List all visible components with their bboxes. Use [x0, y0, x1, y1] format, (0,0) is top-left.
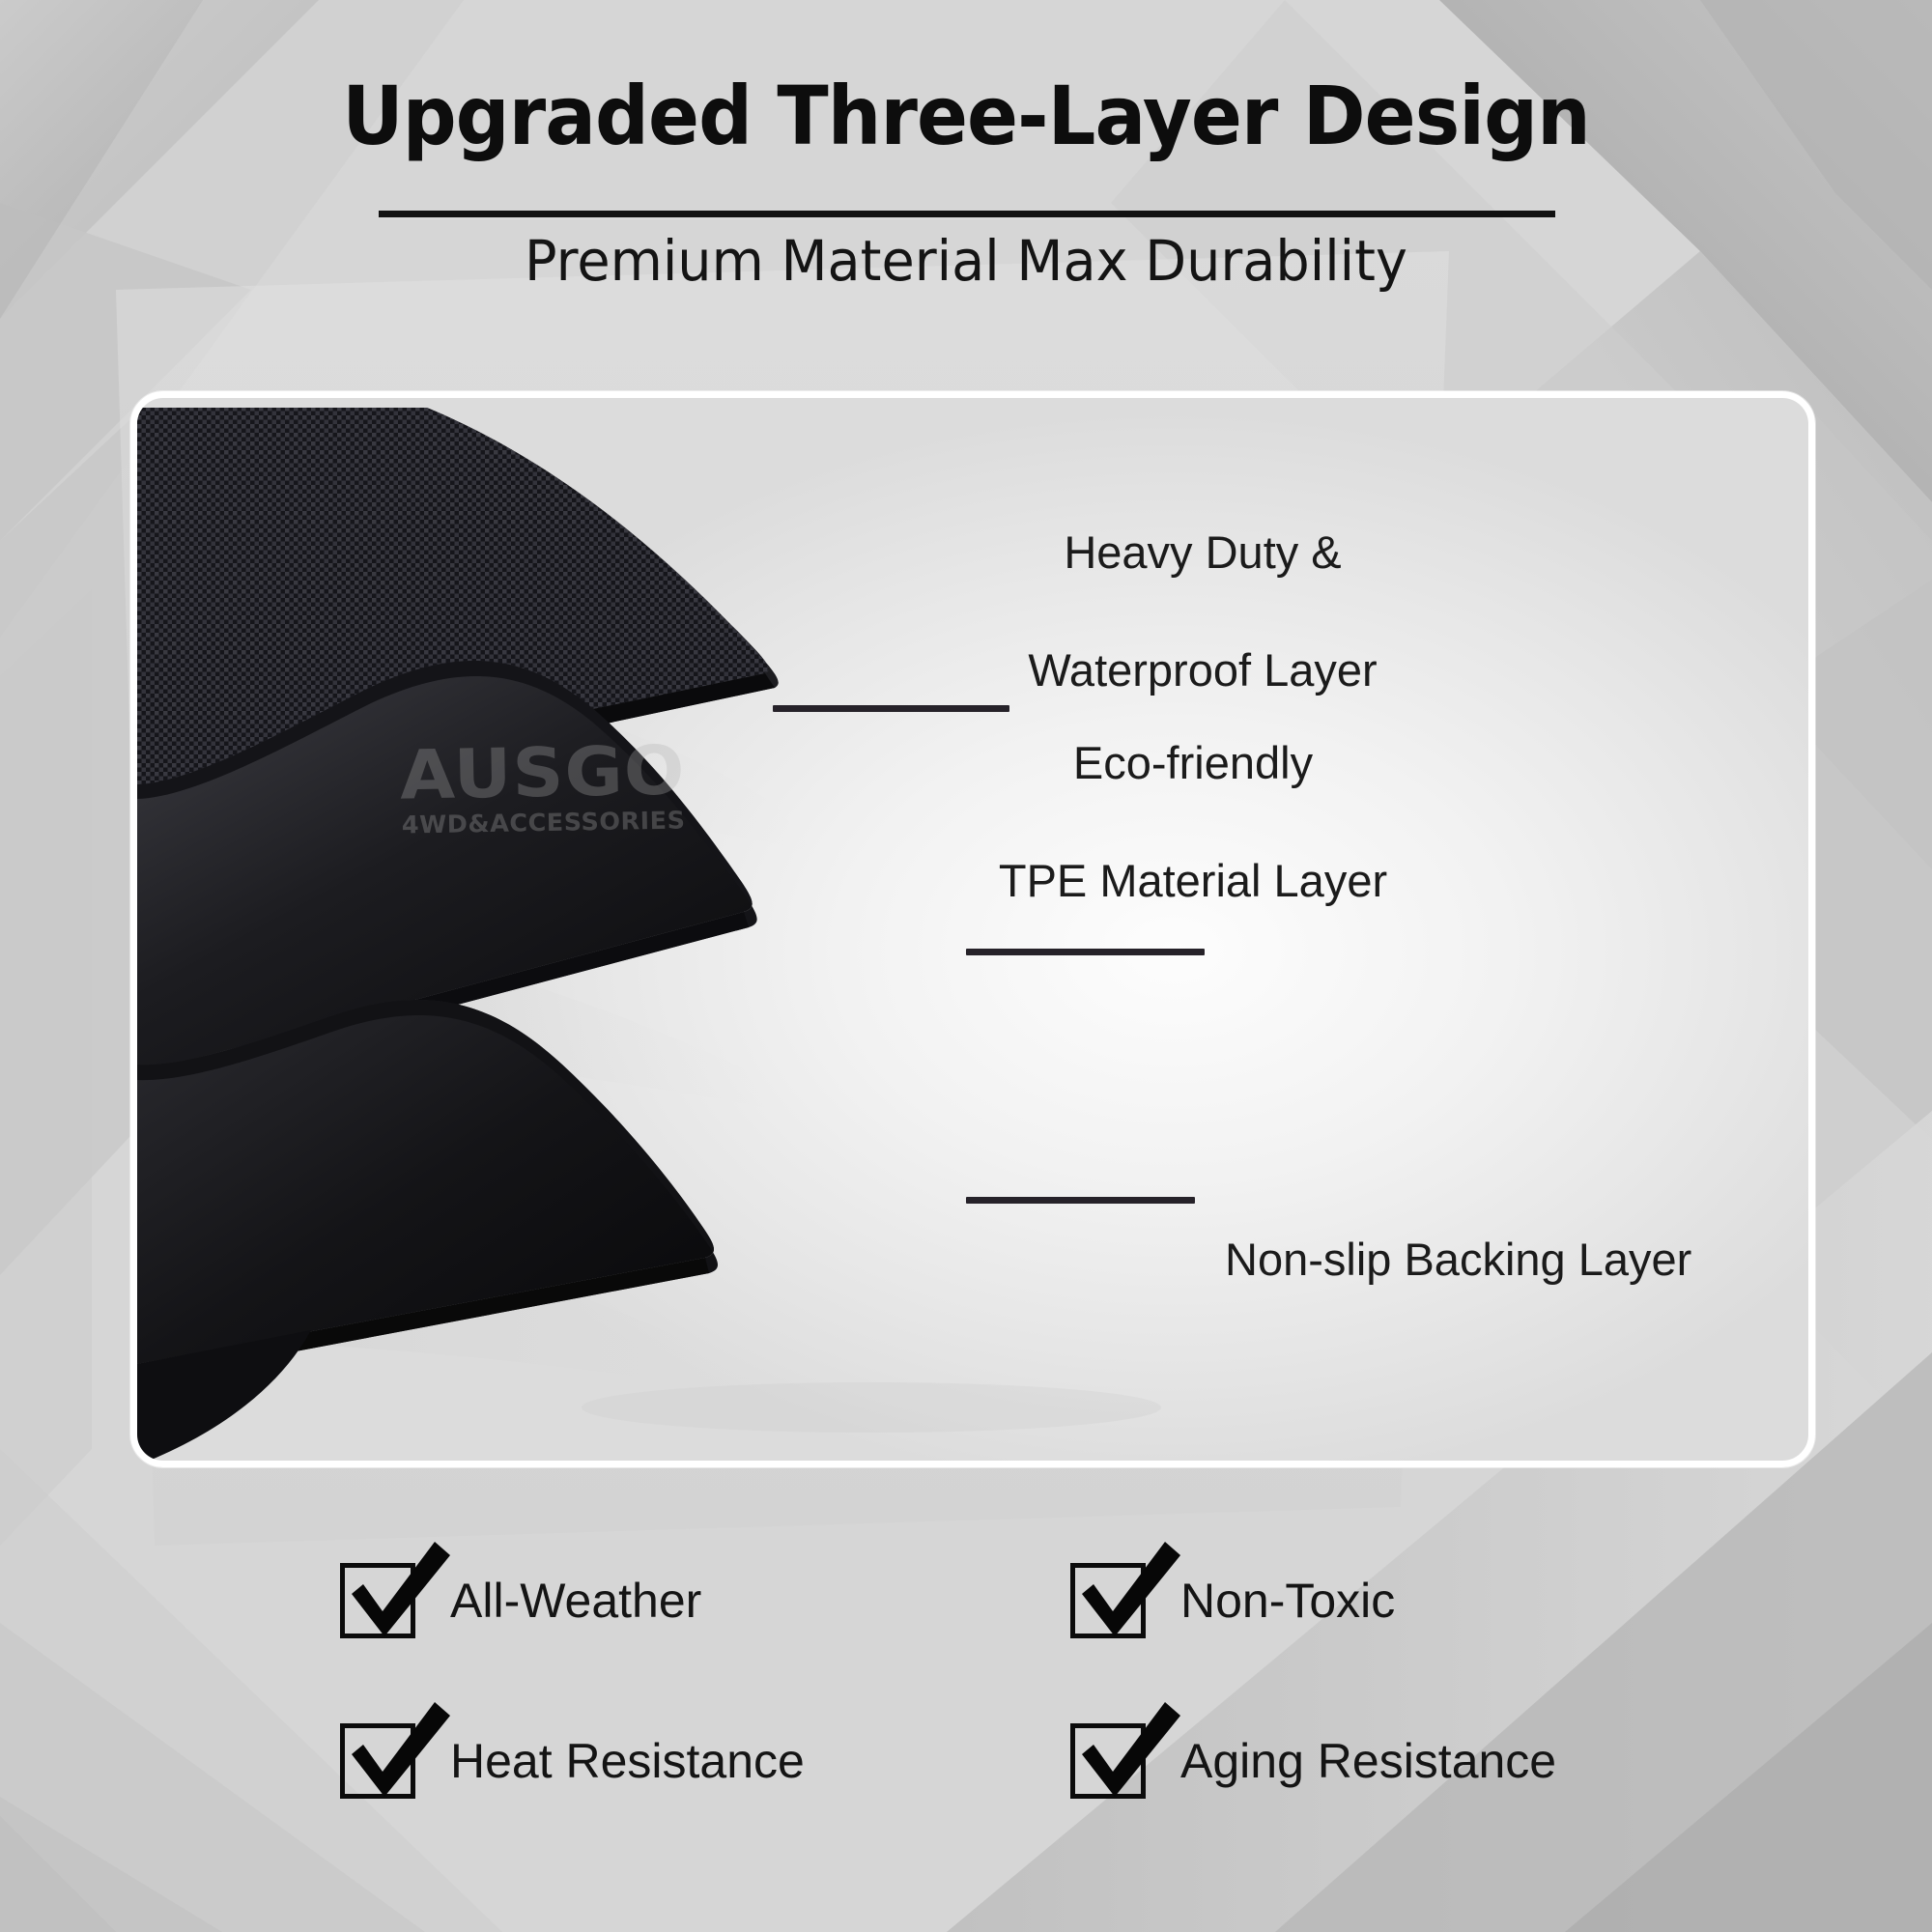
checkmark-icon — [334, 1694, 460, 1820]
leader-line-layer-3 — [966, 1197, 1195, 1204]
feature-non-toxic[interactable]: Non-Toxic — [1070, 1563, 1395, 1638]
page-subtitle: Premium Material Max Durability — [39, 228, 1893, 294]
checkbox-non-toxic[interactable] — [1070, 1563, 1146, 1638]
feature-label-all-weather: All-Weather — [450, 1573, 701, 1629]
checkmark-icon — [1065, 1694, 1190, 1820]
feature-aging-resistance[interactable]: Aging Resistance — [1070, 1723, 1556, 1799]
layer-label-2: Eco-friendly TPE Material Layer — [976, 674, 1410, 969]
checkmark-icon — [334, 1534, 460, 1660]
layer-label-3-line-1: Non-slip Backing Layer — [1225, 1230, 1766, 1289]
feature-label-heat-resistance: Heat Resistance — [450, 1733, 805, 1789]
feature-list: All-Weather Non-Toxic Heat Resistance Ag… — [0, 1536, 1932, 1855]
checkbox-heat-resistance[interactable] — [340, 1723, 415, 1799]
checkbox-aging-resistance[interactable] — [1070, 1723, 1146, 1799]
layer-label-3: Non-slip Backing Layer — [1225, 1171, 1766, 1348]
checkbox-all-weather[interactable] — [340, 1563, 415, 1638]
layer-label-2-line-1: Eco-friendly — [976, 733, 1410, 792]
feature-heat-resistance[interactable]: Heat Resistance — [340, 1723, 805, 1799]
title-divider — [379, 211, 1555, 217]
feature-label-aging-resistance: Aging Resistance — [1180, 1733, 1556, 1789]
page-title: Upgraded Three-Layer Design — [68, 0, 1864, 156]
header: Upgraded Three-Layer Design — [0, 0, 1932, 156]
layer-label-2-line-2: TPE Material Layer — [976, 851, 1410, 910]
checkmark-icon — [1065, 1534, 1190, 1660]
leader-line-layer-1 — [773, 705, 1009, 712]
feature-all-weather[interactable]: All-Weather — [340, 1563, 701, 1638]
feature-label-non-toxic: Non-Toxic — [1180, 1573, 1395, 1629]
layer-label-1-line-1: Heavy Duty & — [995, 523, 1410, 582]
